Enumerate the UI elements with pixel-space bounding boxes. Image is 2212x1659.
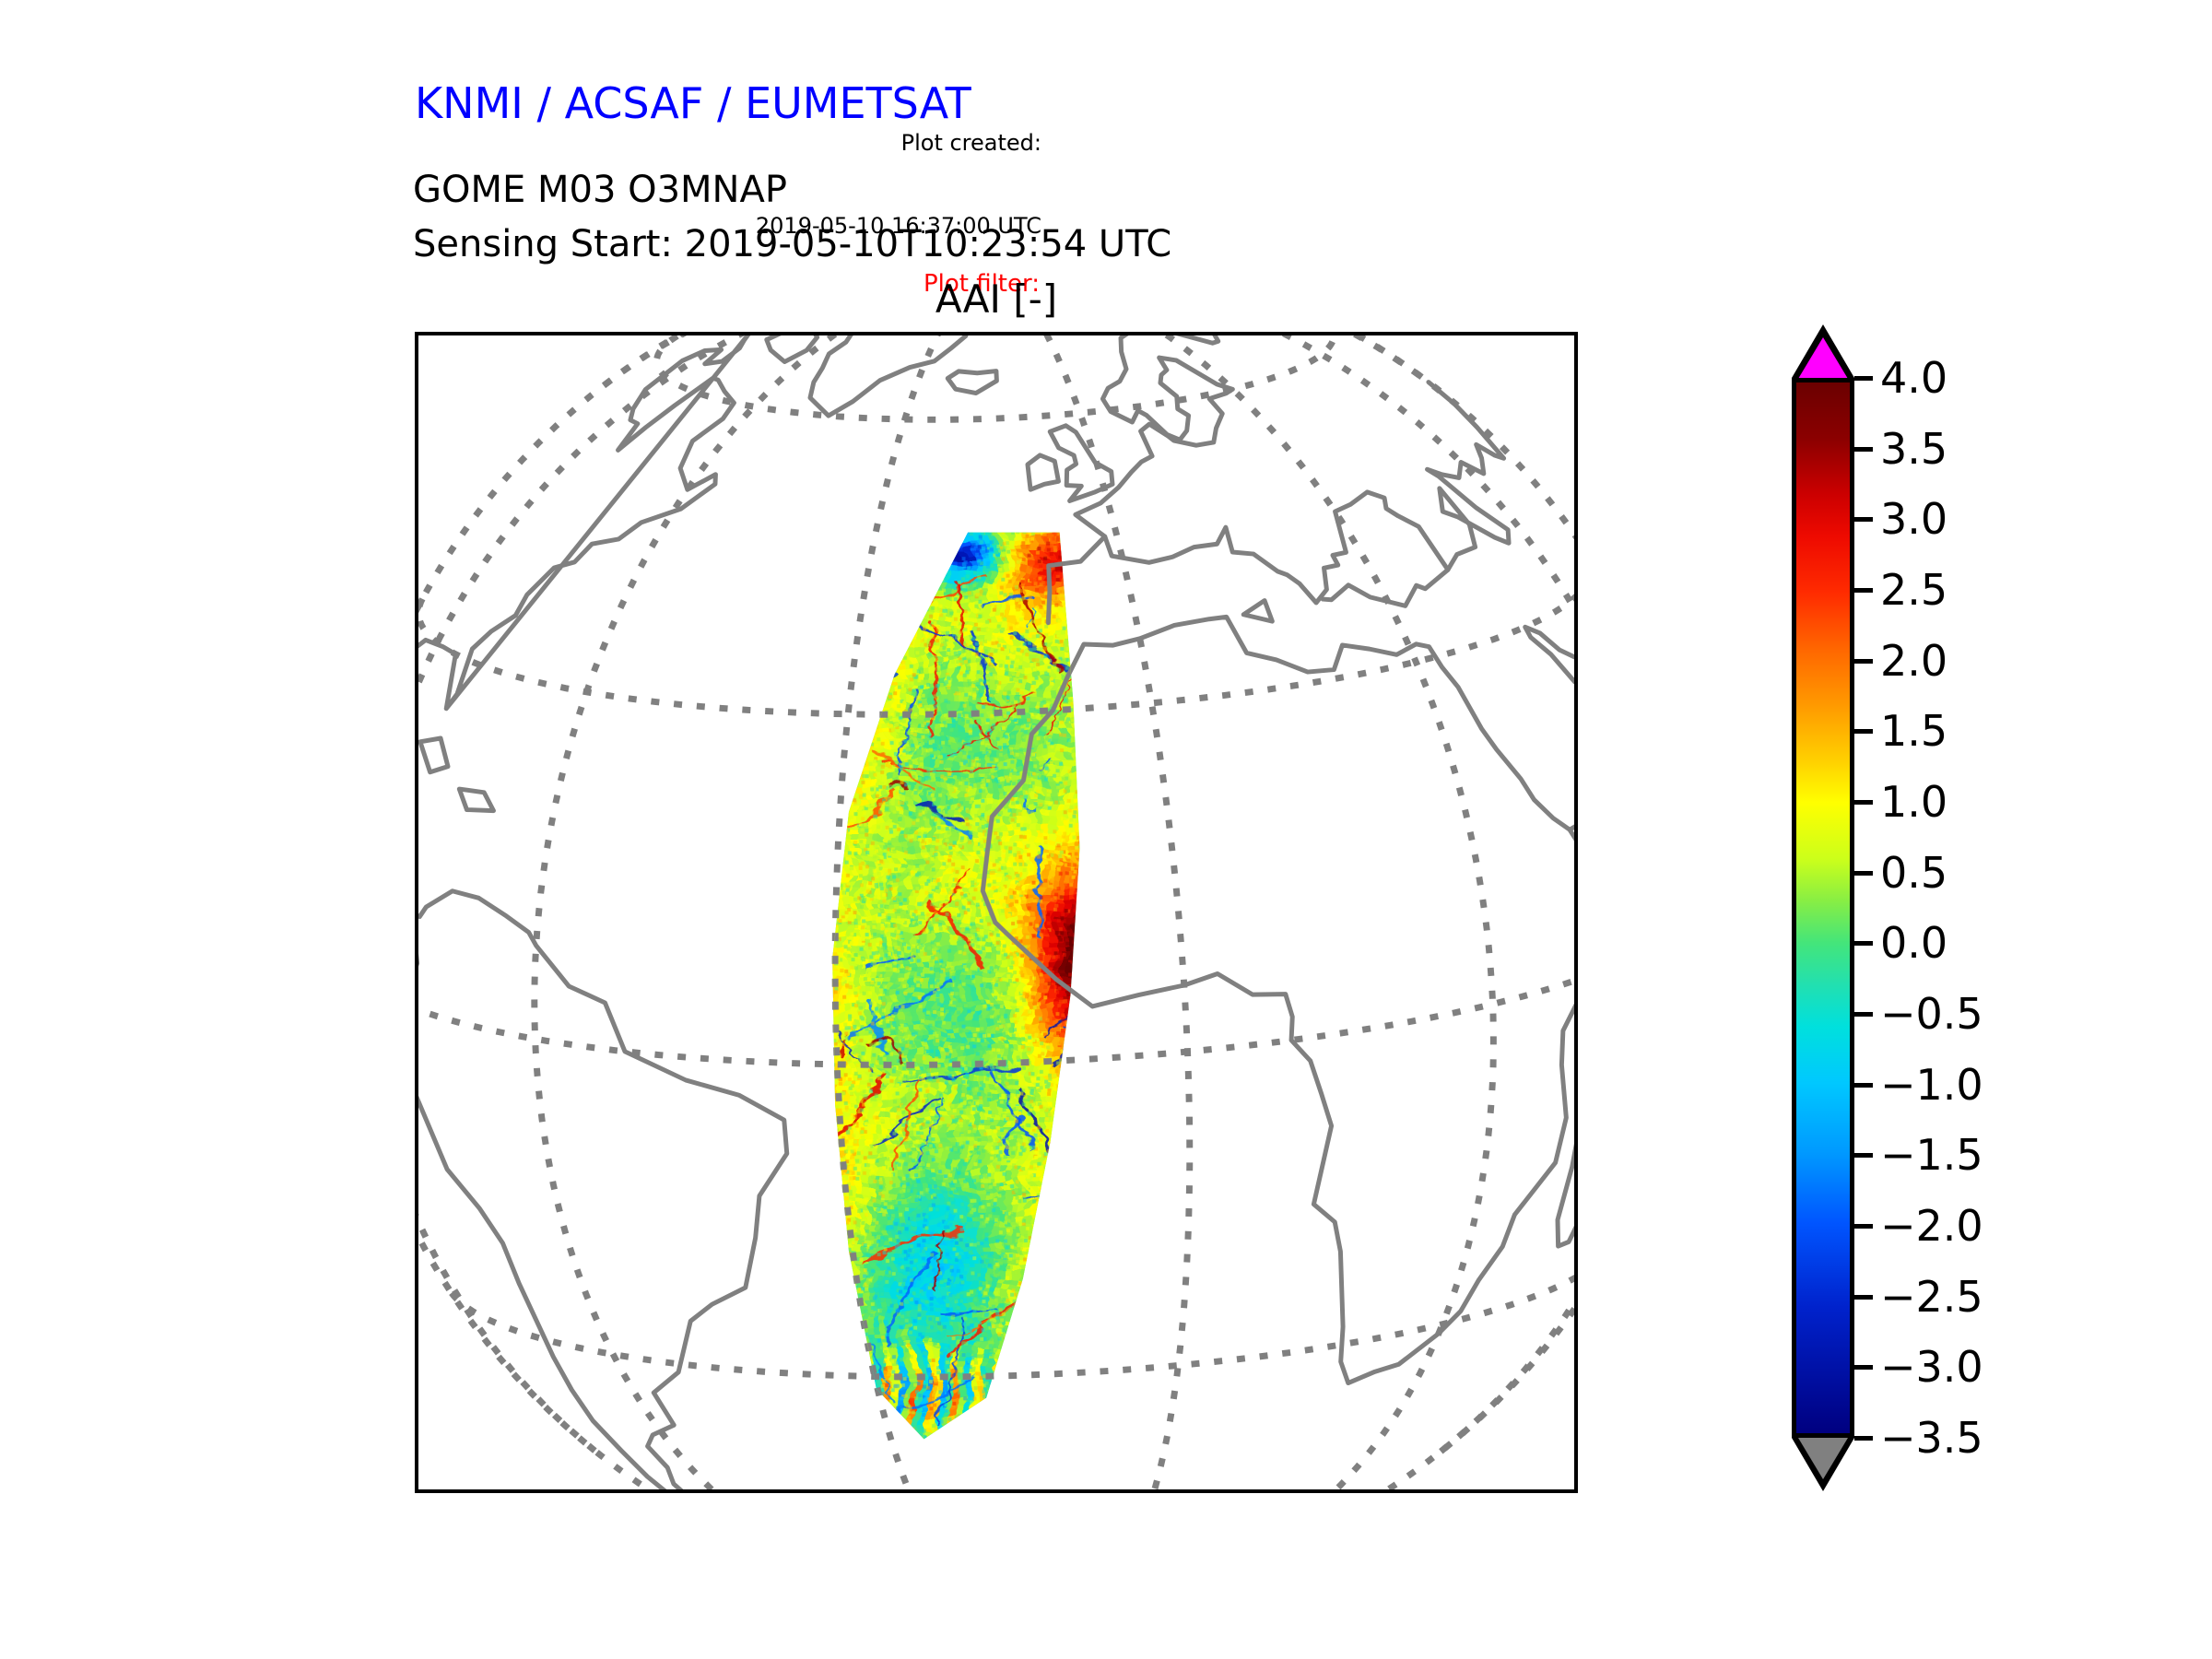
colorbar-tick-label: 2.0: [1880, 640, 1947, 682]
colorbar-tick: [1854, 1365, 1873, 1370]
map-canvas: [418, 335, 1574, 1489]
colorbar-tick: [1854, 1224, 1873, 1229]
colorbar-tick-label: −0.5: [1880, 993, 1983, 1035]
colorbar-tick: [1854, 871, 1873, 876]
colorbar-tick-label: −3.5: [1880, 1417, 1983, 1459]
plot-page: KNMI / ACSAF / EUMETSAT Plot created: 20…: [0, 0, 2212, 1659]
colorbar-tick-label: 3.5: [1880, 428, 1947, 470]
colorbar-tick: [1854, 1083, 1873, 1088]
colorbar-tick-label: 0.0: [1880, 922, 1947, 964]
colorbar-tick-label: −2.5: [1880, 1276, 1983, 1318]
map-plot-frame: [415, 332, 1578, 1493]
colorbar-gradient: [1796, 382, 1850, 1433]
colorbar-tick-label: 3.0: [1880, 498, 1947, 540]
colorbar-tick: [1854, 659, 1873, 664]
colorbar-tick-label: 4.0: [1880, 357, 1947, 399]
colorbar-tick: [1854, 517, 1873, 522]
colorbar: 4.03.53.02.52.01.51.00.50.0−0.5−1.0−1.5−…: [1784, 324, 2171, 1504]
colorbar-tick: [1854, 1153, 1873, 1158]
colorbar-tick: [1854, 447, 1873, 452]
colorbar-tick: [1854, 1295, 1873, 1300]
colorbar-tick-label: 0.5: [1880, 852, 1947, 894]
sensing-start: Sensing Start: 2019-05-10T10:23:54 UTC: [413, 223, 1171, 265]
axis-title: AAI [-]: [415, 276, 1578, 322]
colorbar-tick-label: −3.0: [1880, 1346, 1983, 1388]
colorbar-tick: [1854, 800, 1873, 805]
colorbar-tick-label: −1.0: [1880, 1064, 1983, 1106]
colorbar-tick: [1854, 588, 1873, 593]
colorbar-tick: [1854, 1012, 1873, 1017]
colorbar-tick-label: 1.5: [1880, 710, 1947, 752]
colorbar-tick-label: −1.5: [1880, 1134, 1983, 1176]
colorbar-tick-label: 2.5: [1880, 569, 1947, 611]
colorbar-under-arrow: [1798, 1438, 1848, 1479]
colorbar-tick-label: −2.0: [1880, 1205, 1983, 1247]
colorbar-tick: [1854, 1436, 1873, 1441]
product-name: GOME M03 O3MNAP: [413, 169, 787, 211]
colorbar-body: [1792, 378, 1854, 1438]
plot-created-label: Plot created:: [756, 129, 1041, 157]
colorbar-over-arrow: [1798, 337, 1848, 379]
colorbar-tick: [1854, 941, 1873, 946]
colorbar-tick-label: 1.0: [1880, 781, 1947, 823]
colorbar-tick: [1854, 376, 1873, 381]
map-layers: [418, 335, 1574, 1489]
colorbar-tick: [1854, 729, 1873, 734]
